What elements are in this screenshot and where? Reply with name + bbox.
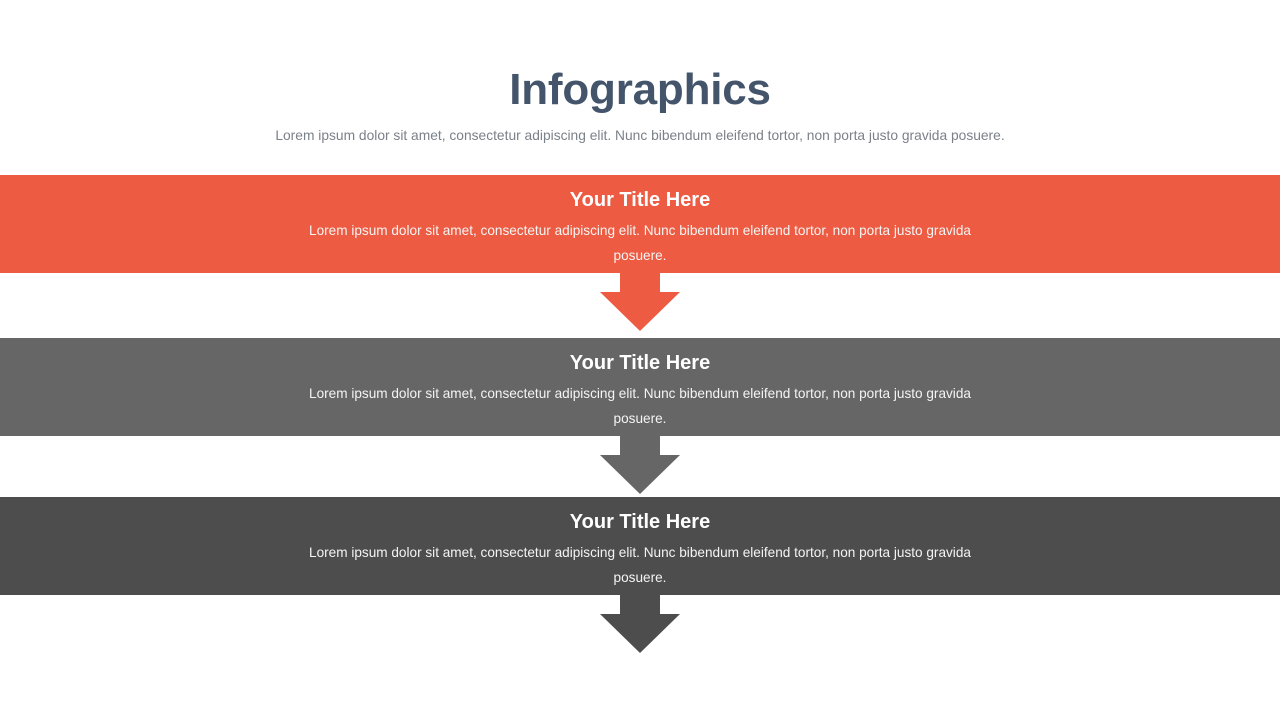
process-step-1[interactable]: Your Title Here Lorem ipsum dolor sit am…: [0, 175, 1280, 273]
arrow-head: [600, 292, 680, 331]
down-arrow-icon-3: [0, 595, 1280, 656]
arrow-head: [600, 614, 680, 653]
page-subtitle: Lorem ipsum dolor sit amet, consectetur …: [0, 118, 1280, 145]
step-1-title: Your Title Here: [0, 187, 1280, 214]
down-arrow-icon-1: [0, 273, 1280, 334]
arrow-stem: [620, 436, 660, 456]
down-arrow-icon-2: [0, 436, 1280, 497]
arrow-stem: [620, 595, 660, 615]
step-3-title: Your Title Here: [0, 509, 1280, 536]
slide-header: Infographics Lorem ipsum dolor sit amet,…: [0, 0, 1280, 145]
step-3-body: Lorem ipsum dolor sit amet, consectetur …: [295, 536, 985, 590]
step-2-body: Lorem ipsum dolor sit amet, consectetur …: [295, 377, 985, 431]
process-step-3[interactable]: Your Title Here Lorem ipsum dolor sit am…: [0, 497, 1280, 595]
arrow-head: [600, 455, 680, 494]
step-2-title: Your Title Here: [0, 350, 1280, 377]
process-step-2[interactable]: Your Title Here Lorem ipsum dolor sit am…: [0, 338, 1280, 436]
arrow-stem: [620, 273, 660, 293]
process-flow: Your Title Here Lorem ipsum dolor sit am…: [0, 175, 1280, 656]
page-title: Infographics: [0, 0, 1280, 118]
infographic-slide: Infographics Lorem ipsum dolor sit amet,…: [0, 0, 1280, 720]
step-1-body: Lorem ipsum dolor sit amet, consectetur …: [295, 214, 985, 268]
